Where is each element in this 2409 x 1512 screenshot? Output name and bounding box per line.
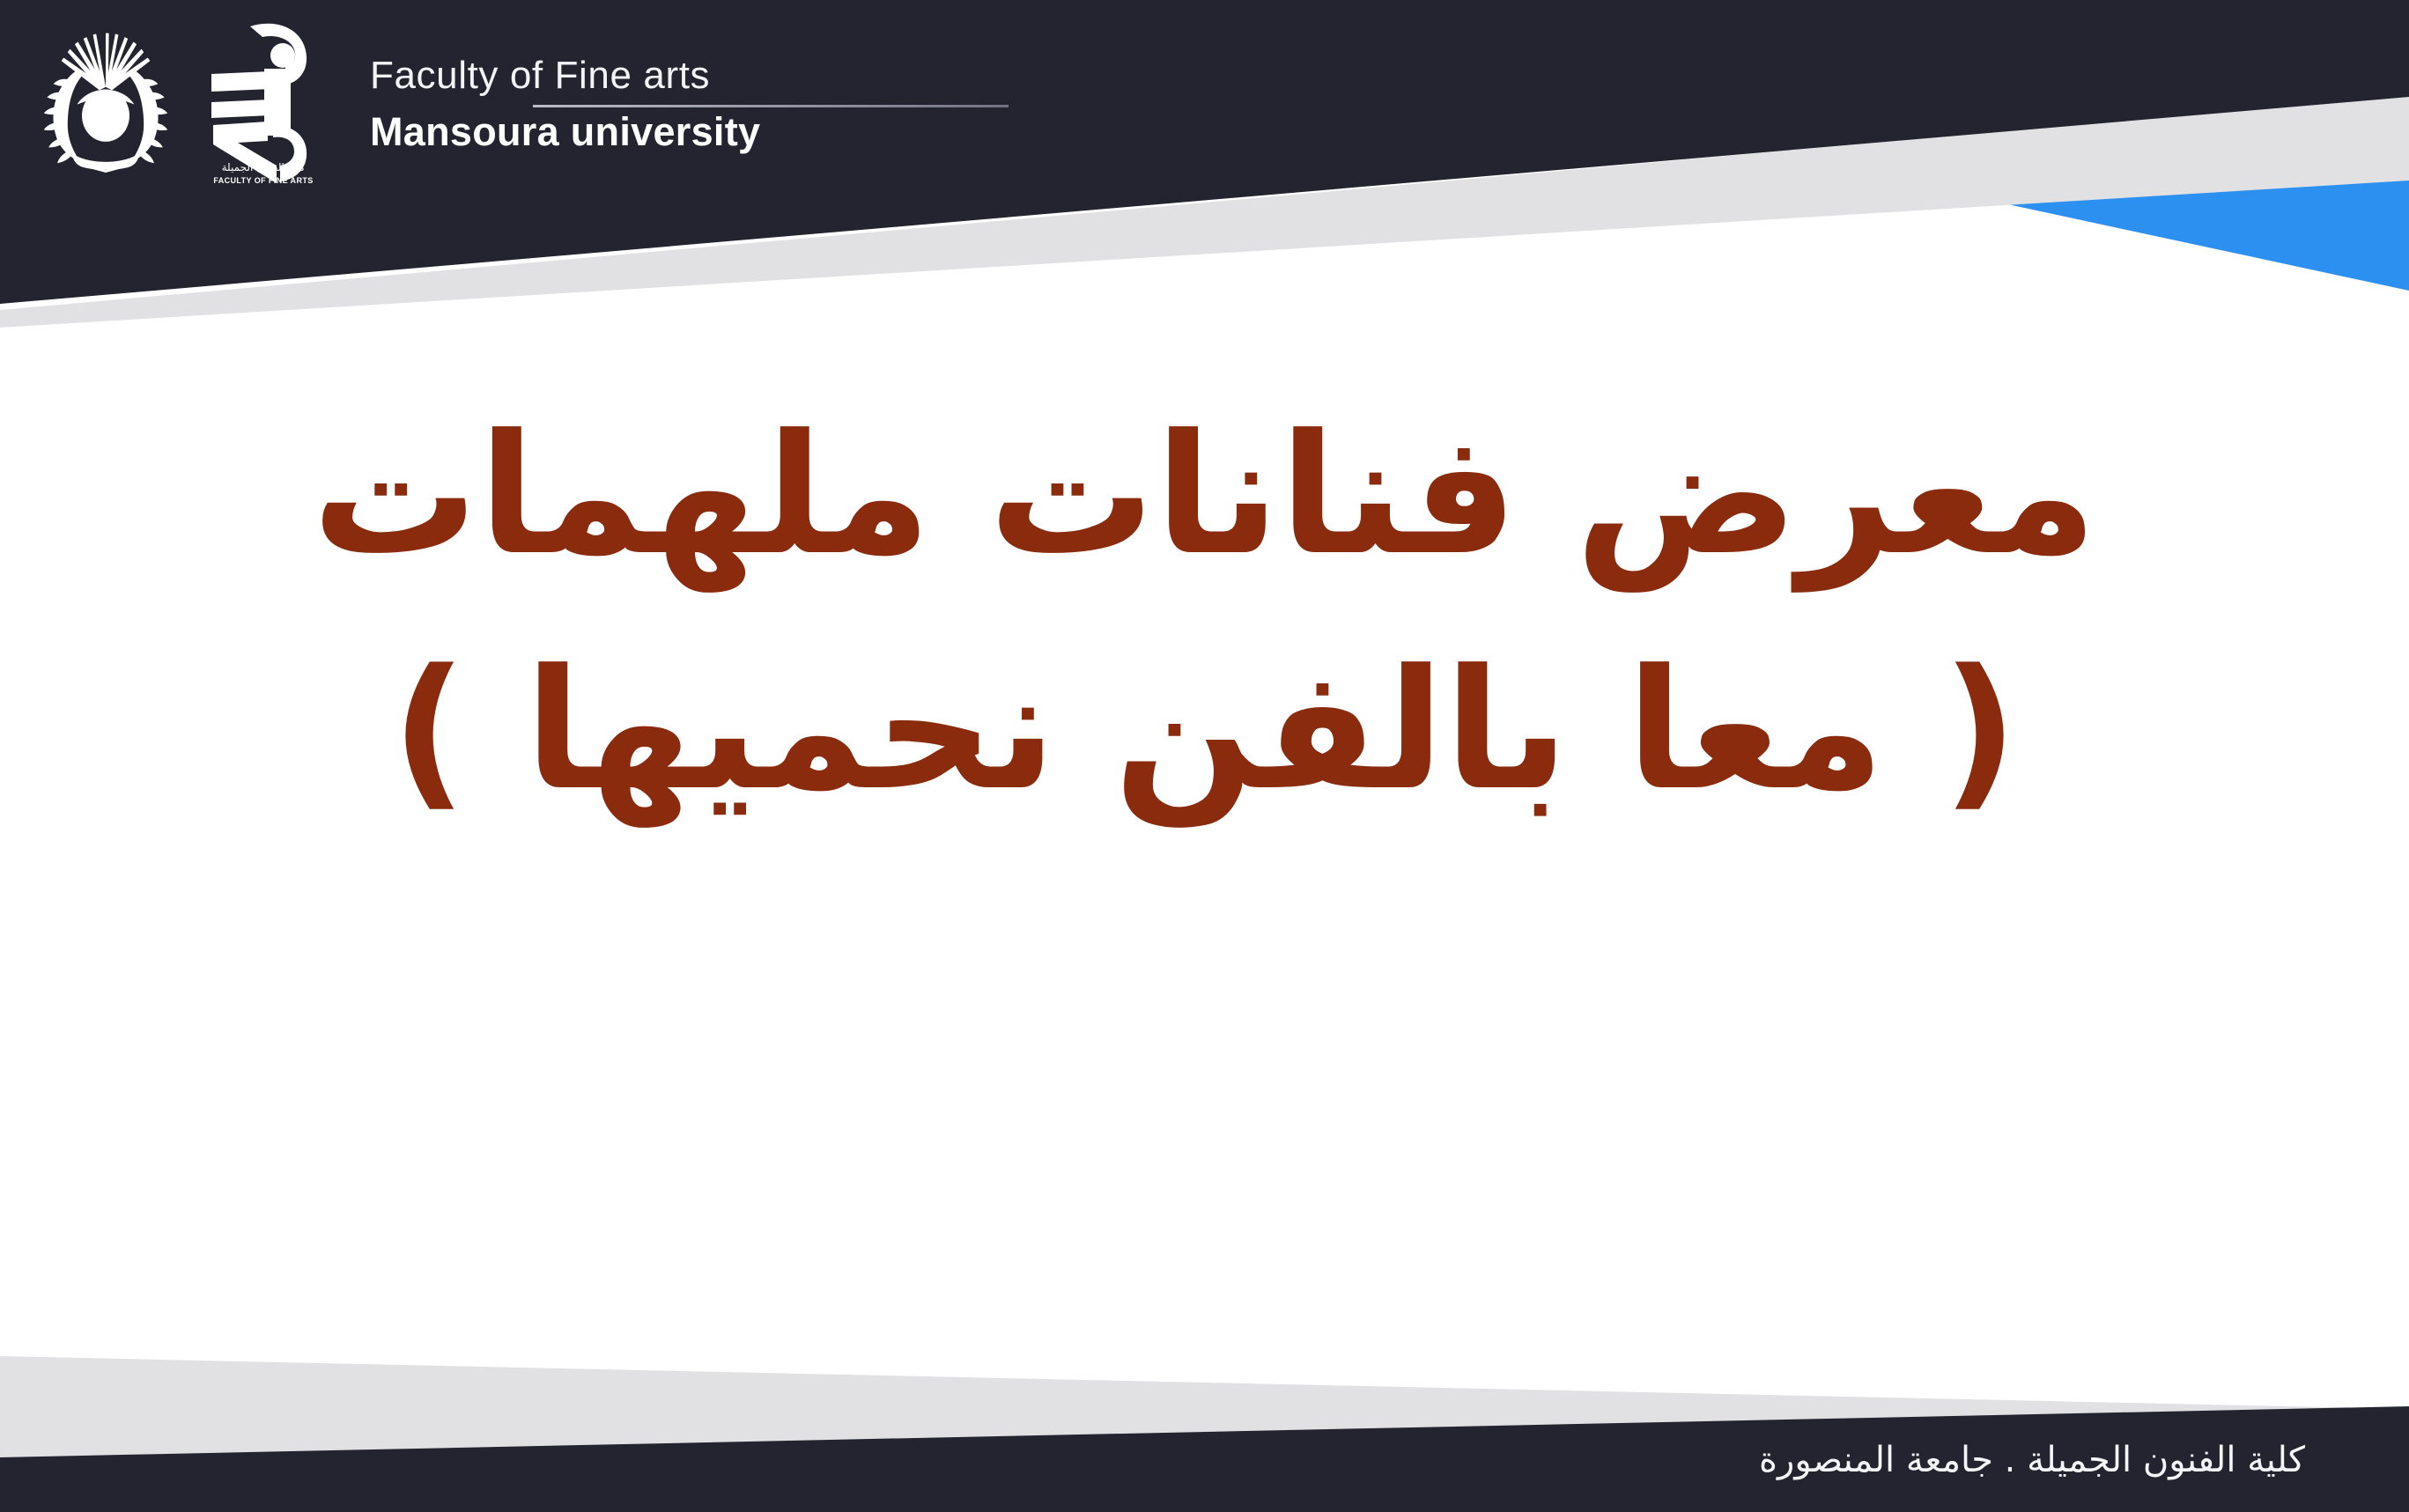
university-seal-container	[26, 14, 185, 177]
title-line-1: معرض فنانات ملهمات	[0, 379, 2409, 614]
footer-credit-text: كلية الفنون الجميلة . جامعة المنصورة	[1759, 1440, 2305, 1480]
presentation-slide: كلية الفنون الجميلة FACULTY OF FINE ARTS…	[0, 0, 2409, 1512]
bottom-gray-band	[0, 1356, 2409, 1512]
header-university-label: Mansoura university	[370, 111, 1009, 154]
faculty-mark-caption-english: FACULTY OF FINE ARTS	[213, 176, 313, 185]
faculty-mark-caption-arabic: كلية الفنون الجميلة	[222, 161, 306, 174]
university-seal-icon	[26, 14, 185, 173]
slide-title-block: معرض فنانات ملهمات ( معا بالفن نحميها )	[0, 379, 2409, 849]
faculty-mark-container: كلية الفنون الجميلة FACULTY OF FINE ARTS	[185, 14, 329, 191]
bottom-blue-wedge	[0, 1374, 291, 1497]
faculty-fine-arts-logo-icon: كلية الفنون الجميلة FACULTY OF FINE ARTS	[197, 19, 329, 187]
header-wordmark: Faculty of Fine arts Mansoura university	[370, 55, 1009, 153]
header-divider-rule	[533, 105, 1009, 107]
title-line-2: ( معا بالفن نحميها )	[0, 614, 2409, 849]
header-faculty-label: Faculty of Fine arts	[370, 55, 1009, 97]
slide-header: كلية الفنون الجميلة FACULTY OF FINE ARTS…	[0, 0, 2409, 317]
branding-group: كلية الفنون الجميلة FACULTY OF FINE ARTS…	[26, 14, 1009, 191]
